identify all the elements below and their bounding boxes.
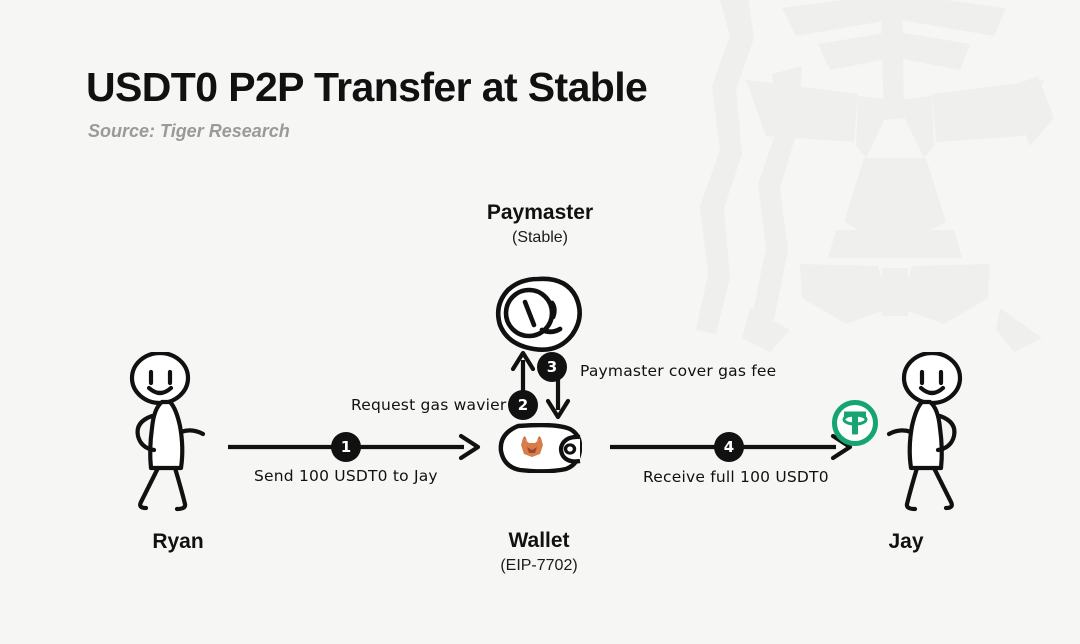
wallet-title: Wallet	[439, 528, 639, 554]
jay-label: Jay	[846, 530, 966, 554]
paymaster-subtitle: (Stable)	[440, 226, 640, 250]
paymaster-label-group: Paymaster (Stable)	[440, 200, 640, 250]
wallet-label-group: Wallet (EIP-7702)	[439, 528, 639, 578]
page-subtitle: Source: Tiger Research	[88, 121, 647, 142]
ryan-stick-figure-icon	[118, 352, 238, 512]
tether-coin-icon	[830, 398, 880, 448]
edge-label-paymaster-cover-gas-fee: Paymaster cover gas fee	[580, 362, 776, 380]
metamask-wallet-icon	[498, 423, 582, 473]
page-title: USDT0 P2P Transfer at Stable	[86, 66, 647, 109]
header: USDT0 P2P Transfer at Stable Source: Tig…	[86, 66, 647, 142]
step-badge-4: 4	[714, 432, 744, 462]
stable-logo-icon	[492, 275, 588, 353]
edge-label-request-gas-wavier: Request gas wavier	[351, 396, 506, 414]
wallet-subtitle: (EIP-7702)	[439, 554, 639, 578]
step-badge-3: 3	[537, 352, 567, 382]
step-badge-2: 2	[508, 390, 538, 420]
edge-label-send-100-usdt0: Send 100 USDT0 to Jay	[254, 467, 438, 485]
tiger-research-watermark-icon	[650, 0, 1080, 358]
edge-label-receive-full-100-usdt0: Receive full 100 USDT0	[643, 468, 829, 486]
ryan-label: Ryan	[118, 530, 238, 554]
paymaster-title: Paymaster	[440, 200, 640, 226]
diagram-canvas: USDT0 P2P Transfer at Stable Source: Tig…	[0, 0, 1080, 644]
step-badge-1: 1	[331, 432, 361, 462]
